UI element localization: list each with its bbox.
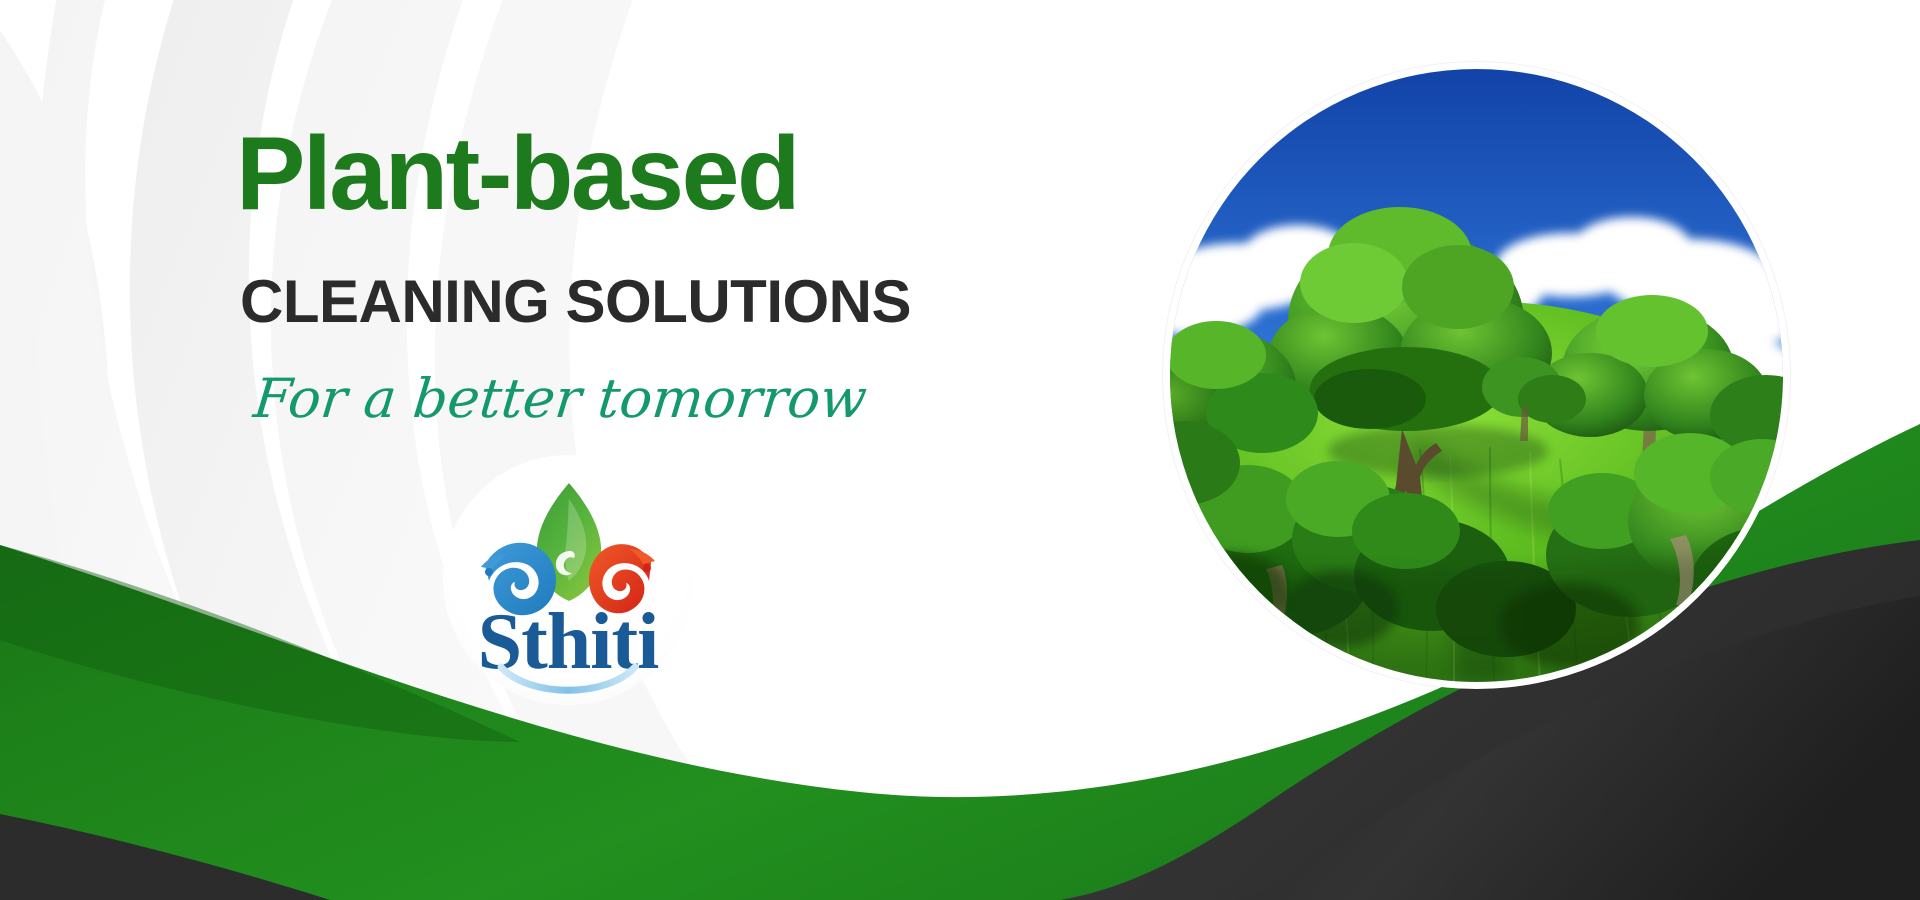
brand-logo-badge[interactable]: Sthiti bbox=[443, 455, 693, 705]
promotional-banner: Plant-based CLEANING SOLUTIONS For a bet… bbox=[0, 0, 1920, 900]
hero-photo-circle bbox=[1163, 62, 1790, 689]
logo-artwork: Sthiti bbox=[443, 455, 693, 705]
green-globe-illustration bbox=[1170, 69, 1783, 682]
hero-photo bbox=[1170, 69, 1783, 682]
